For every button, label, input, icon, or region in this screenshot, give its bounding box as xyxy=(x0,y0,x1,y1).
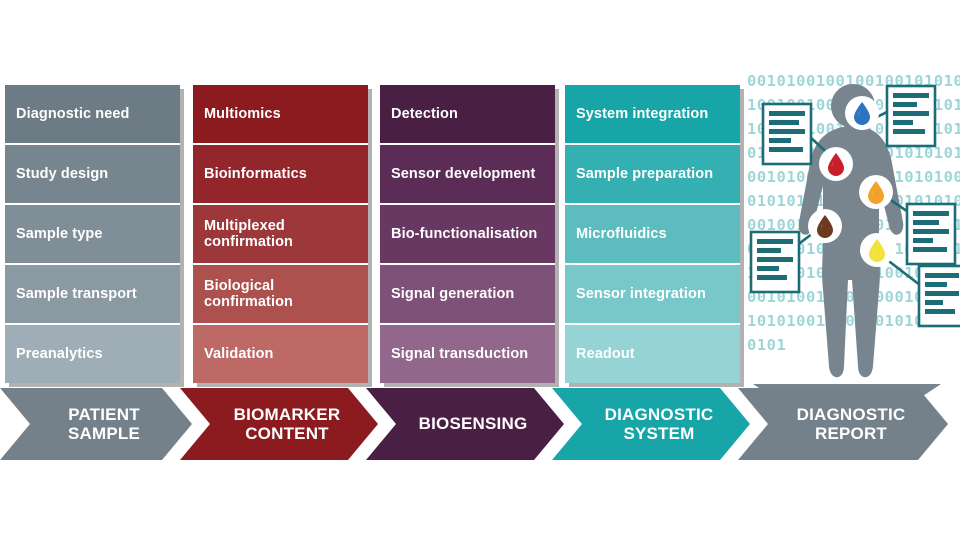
stage-arrow-biosensing[interactable]: BIOSENSING xyxy=(366,388,564,460)
stage-item[interactable]: Signal generation xyxy=(380,265,555,325)
stage-item-label: Multiplexed confirmation xyxy=(204,218,357,250)
report-card xyxy=(907,204,955,264)
stage-arrow-label: DIAGNOSTIC SYSTEM xyxy=(583,405,720,443)
stage-item-label: Signal generation xyxy=(391,286,514,302)
stage-item-label: Diagnostic need xyxy=(16,106,130,122)
stage-arrow-label: BIOSENSING xyxy=(397,414,534,433)
stage-column-biomarker-content[interactable]: Multiomics Bioinformatics Multiplexed co… xyxy=(193,85,368,383)
stage-item[interactable]: Bioinformatics xyxy=(193,145,368,205)
stage-item-label: Sensor development xyxy=(391,166,535,182)
stage-item[interactable]: Study design xyxy=(5,145,180,205)
column-stack: Diagnostic need Study design Sample type… xyxy=(5,85,180,383)
stage-item[interactable]: Sensor integration xyxy=(565,265,740,325)
stage-item[interactable]: Multiomics xyxy=(193,85,368,145)
stage-column-biosensing[interactable]: Detection Sensor development Bio-functio… xyxy=(380,85,555,383)
droplet-blue xyxy=(845,96,879,130)
illustration-patient-report: 00101001001001001010100 1001001001001010… xyxy=(745,66,960,396)
stage-item-label: Readout xyxy=(576,346,635,362)
stage-item-label: Bioinformatics xyxy=(204,166,307,182)
stage-item[interactable]: Readout xyxy=(565,325,740,383)
stage-arrow-label: DIAGNOSTIC REPORT xyxy=(775,405,912,443)
stage-item[interactable]: Multiplexed confirmation xyxy=(193,205,368,265)
stage-item[interactable]: Diagnostic need xyxy=(5,85,180,145)
stage-item[interactable]: Preanalytics xyxy=(5,325,180,383)
report-card xyxy=(763,104,811,164)
stage-item[interactable]: Detection xyxy=(380,85,555,145)
stage-arrow-diagnostic-system[interactable]: DIAGNOSTIC SYSTEM xyxy=(552,388,750,460)
stage-item[interactable]: System integration xyxy=(565,85,740,145)
droplet-yellow xyxy=(860,233,894,267)
stage-item-label: Signal transduction xyxy=(391,346,528,362)
stage-item-label: Sample preparation xyxy=(576,166,713,182)
stage-item-label: Validation xyxy=(204,346,274,362)
report-card xyxy=(751,232,799,292)
stage-item-label: Biological confirmation xyxy=(204,278,357,310)
stage-arrow-biomarker-content[interactable]: BIOMARKER CONTENT xyxy=(180,388,378,460)
report-card xyxy=(887,86,935,146)
column-stack: System integration Sample preparation Mi… xyxy=(565,85,740,383)
column-stack: Multiomics Bioinformatics Multiplexed co… xyxy=(193,85,368,383)
stage-item[interactable]: Signal transduction xyxy=(380,325,555,383)
stage-item-label: Preanalytics xyxy=(16,346,103,362)
stage-item[interactable]: Microfluidics xyxy=(565,205,740,265)
stage-item-label: Microfluidics xyxy=(576,226,667,242)
stage-item-label: Bio-functionalisation xyxy=(391,226,537,242)
stage-item[interactable]: Bio-functionalisation xyxy=(380,205,555,265)
droplet-brown xyxy=(808,209,842,243)
stage-column-patient-sample[interactable]: Diagnostic need Study design Sample type… xyxy=(5,85,180,383)
droplet-red xyxy=(819,147,853,181)
stage-arrow-label: PATIENT SAMPLE xyxy=(46,405,146,443)
report-card xyxy=(919,266,960,326)
diagram-canvas: Diagnostic need Study design Sample type… xyxy=(0,0,960,540)
stage-item-label: System integration xyxy=(576,106,708,122)
stage-item[interactable]: Sample transport xyxy=(5,265,180,325)
stage-item-label: Multiomics xyxy=(204,106,281,122)
binary-row: 0101 xyxy=(747,336,786,354)
stage-item-label: Sensor integration xyxy=(576,286,706,302)
stage-item-label: Study design xyxy=(16,166,108,182)
droplet-orange xyxy=(859,175,893,209)
stage-arrow-label: BIOMARKER CONTENT xyxy=(212,405,347,443)
stage-item[interactable]: Validation xyxy=(193,325,368,383)
stage-item[interactable]: Sample preparation xyxy=(565,145,740,205)
stage-item[interactable]: Sensor development xyxy=(380,145,555,205)
stage-arrow-patient-sample[interactable]: PATIENT SAMPLE xyxy=(0,388,192,460)
stage-item[interactable]: Biological confirmation xyxy=(193,265,368,325)
stage-item-label: Detection xyxy=(391,106,458,122)
stage-item-label: Sample transport xyxy=(16,286,137,302)
stage-arrow-diagnostic-report[interactable]: DIAGNOSTIC REPORT xyxy=(738,388,948,460)
stage-column-diagnostic-system[interactable]: System integration Sample preparation Mi… xyxy=(565,85,740,383)
stage-item[interactable]: Sample type xyxy=(5,205,180,265)
column-stack: Detection Sensor development Bio-functio… xyxy=(380,85,555,383)
stage-item-label: Sample type xyxy=(16,226,103,242)
